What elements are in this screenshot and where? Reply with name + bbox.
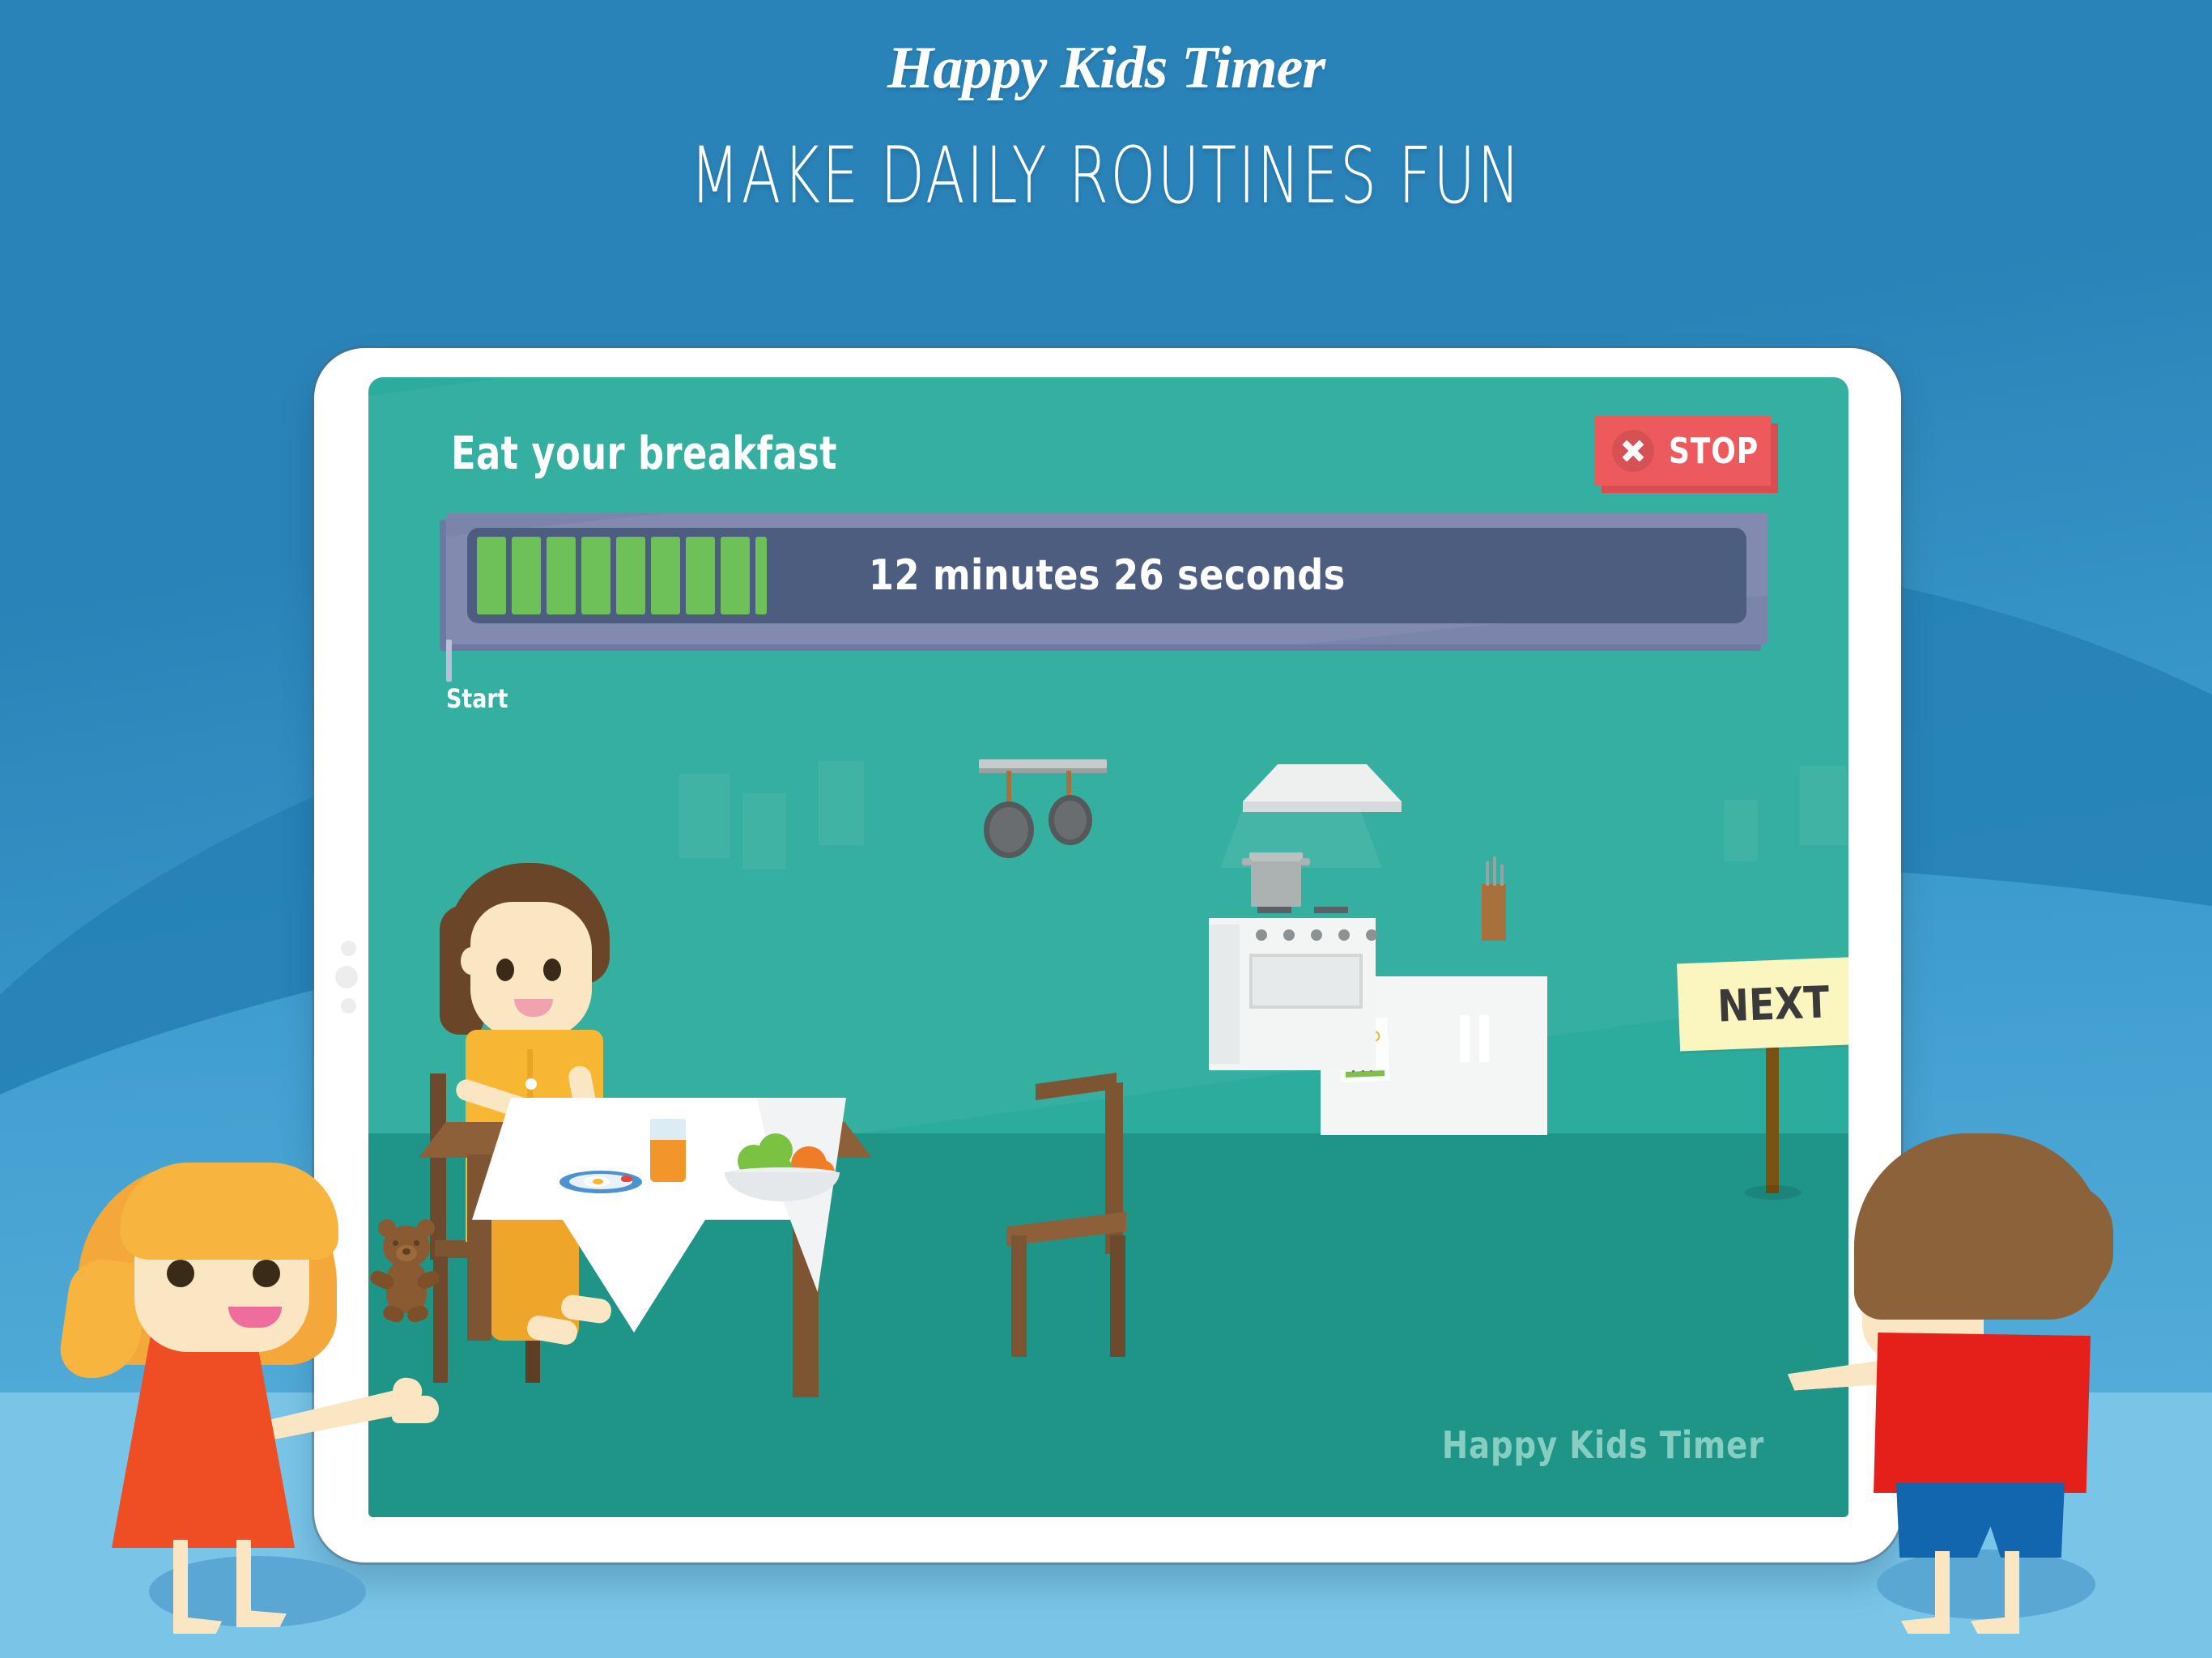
tomato-slice [621,1175,632,1182]
juice [650,1140,686,1182]
shirt-button [525,1078,537,1090]
plate-with-fried-egg [559,1171,642,1193]
oven-knob[interactable] [1311,929,1322,941]
next-button-sign[interactable]: NEXT [1678,960,1848,1048]
girl-hair-fringe [120,1163,338,1260]
next-button-label: NEXT [1677,957,1848,1052]
timer-start-label: Start [446,683,520,714]
knife-block-icon [1482,884,1506,941]
knife-blade [1493,857,1496,886]
oven-side-panel [1209,925,1240,1064]
counter-handle [1460,1015,1470,1062]
page-subtitle: MAKE DAILY ROUTINES FUN [287,130,1925,221]
wall-tile [679,774,730,858]
tablet-side-buttons[interactable] [338,931,358,1023]
wall-tile [742,793,786,869]
app-watermark: Happy Kids Timer [1442,1423,1764,1467]
chair-leg [1110,1235,1125,1357]
pot-body [1251,860,1301,907]
pot-handle [1242,858,1252,865]
rack-bar [979,759,1107,768]
cooking-pot-icon [1251,860,1301,907]
glass-of-orange-juice [650,1119,686,1182]
wall-tile [1724,800,1758,861]
stove-burner [1314,907,1348,913]
frying-pan-icon [984,801,1034,858]
timer-progress-bar[interactable]: 12 minutes 26 seconds [446,513,1767,644]
egg-yolk [593,1179,603,1184]
boy-shirt [1874,1333,2091,1493]
stop-button-label: STOP [1669,431,1759,472]
eye [543,959,561,981]
eye [496,959,514,981]
stop-button[interactable]: STOP [1594,416,1771,486]
timer-tick-start [446,640,452,682]
sign-board[interactable]: NEXT [1677,957,1848,1052]
teddy-eye [393,1240,398,1246]
rack-bar-shadow [979,768,1107,773]
stove-burner [1257,907,1291,913]
girl-eye [167,1260,194,1287]
knife-blade [1486,861,1489,886]
oven-door [1249,954,1363,1009]
boy-hair-side [2016,1184,2113,1297]
oven-knob[interactable] [1256,929,1267,941]
tablet-button-large[interactable] [335,966,358,988]
girl-leg [173,1540,188,1627]
timer-remaining-value: 12 minutes 26 seconds [869,551,1346,600]
chair-leg [1011,1235,1027,1357]
pot-lid [1249,852,1303,861]
boy-shorts [1896,1483,2065,1558]
oven-knob[interactable] [1338,929,1350,941]
character-shadow [1877,1550,2095,1619]
timer-progress-track: 12 minutes 26 seconds [467,528,1746,623]
pan-inner [989,807,1028,852]
chair-right [1105,1083,1123,1253]
close-x-icon [1612,430,1654,472]
pot-handle [1300,858,1310,865]
teddy-nose [402,1248,410,1255]
ear [461,947,482,975]
pan-inner [1054,801,1087,840]
app-screen: Eat your breakfast STOP [368,377,1848,1517]
tablet-button-small-top[interactable] [341,941,356,956]
oven-knobs [1256,929,1377,941]
sign-shadow [1745,1185,1802,1200]
knife-block-body [1482,884,1506,941]
teddy-eye [414,1240,419,1246]
wall-tile [819,761,864,845]
page-title: Happy Kids Timer [0,34,2212,103]
hood-cap [1243,764,1402,801]
kitchen-scene-illustration: NEXT Happy Kids Timer [368,717,1848,1517]
frying-pan-icon [1049,795,1092,845]
task-title: Eat your breakfast [451,427,837,480]
girl-eye [253,1260,280,1287]
timer-remaining-text: 12 minutes 26 seconds [467,528,1746,623]
chair-back-top [1036,1073,1117,1100]
header-titles: Happy Kids Timer MAKE DAILY ROUTINES FUN [0,0,2212,221]
tablet-device-frame: Eat your breakfast STOP [314,348,1901,1562]
oven-knob[interactable] [1283,929,1295,941]
stove-oven [1209,918,1376,1070]
face [470,902,592,1038]
oven-body [1209,918,1376,1070]
tablet-button-small-bottom[interactable] [341,998,356,1014]
range-hood-icon [1243,764,1402,812]
counter-handle [1479,1015,1489,1062]
wall-tile [1800,766,1847,845]
oven-knob[interactable] [1366,929,1377,941]
hanging-pans-rack [979,759,1107,768]
knife-blade [1500,865,1504,886]
